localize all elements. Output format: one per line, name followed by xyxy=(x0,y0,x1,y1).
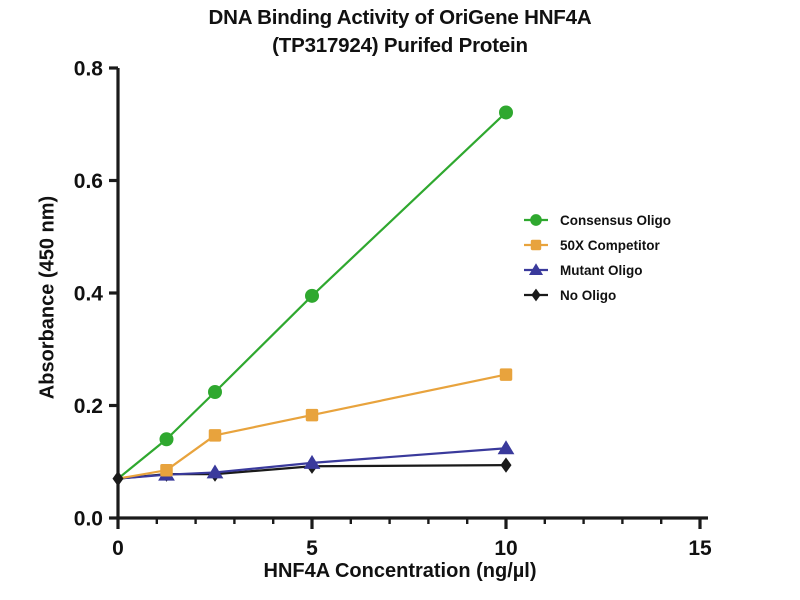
data-point-marker xyxy=(113,472,123,486)
data-point-marker xyxy=(209,386,222,399)
data-point-marker xyxy=(161,464,173,476)
legend-label: Mutant Oligo xyxy=(560,263,642,278)
data-point-marker xyxy=(531,240,540,249)
data-point-marker xyxy=(499,441,514,453)
legend-label: No Oligo xyxy=(560,288,616,303)
data-point-marker xyxy=(500,369,512,381)
data-point-marker xyxy=(160,433,173,446)
y-tick-label: 0.4 xyxy=(74,283,104,306)
data-point-marker xyxy=(531,215,542,226)
series-consensus-oligo xyxy=(118,106,513,479)
y-tick-label: 0.0 xyxy=(74,508,103,531)
x-tick-label: 0 xyxy=(112,537,124,560)
series-mutant-oligo xyxy=(118,441,514,480)
legend-layer: Consensus Oligo50X CompetitorMutant Olig… xyxy=(524,213,671,303)
x-tick-label: 10 xyxy=(494,537,517,560)
y-axis-label: Absorbance (450 nm) xyxy=(37,118,60,478)
data-point-marker xyxy=(501,458,511,472)
legend-item-mutant-oligo[interactable]: Mutant Oligo xyxy=(524,263,642,278)
y-tick-label: 0.6 xyxy=(74,170,103,193)
legend-label: 50X Competitor xyxy=(560,238,661,253)
x-axis-label: HNF4A Concentration (ng/µl) xyxy=(0,560,800,583)
x-tick-label: 15 xyxy=(688,537,712,560)
data-point-marker xyxy=(306,409,318,421)
legend-item-consensus-oligo[interactable]: Consensus Oligo xyxy=(524,213,671,228)
plot-area: 0.00.20.40.60.8051015 Consensus Oligo50X… xyxy=(0,0,800,600)
data-point-marker xyxy=(306,289,319,302)
x-tick-label: 5 xyxy=(306,537,318,560)
data-point-marker xyxy=(532,289,540,300)
axis-layer: 0.00.20.40.60.8051015 xyxy=(74,58,712,561)
data-point-marker xyxy=(500,106,513,119)
series-layer xyxy=(113,106,513,485)
legend-label: Consensus Oligo xyxy=(560,213,671,228)
data-point-marker xyxy=(209,430,221,442)
legend-item-no-oligo[interactable]: No Oligo xyxy=(524,288,616,303)
y-tick-label: 0.8 xyxy=(74,58,104,81)
chart-figure: DNA Binding Activity of OriGene HNF4A (T… xyxy=(0,0,800,600)
legend-item-50x-competitor[interactable]: 50X Competitor xyxy=(524,238,661,253)
y-tick-label: 0.2 xyxy=(74,395,103,418)
